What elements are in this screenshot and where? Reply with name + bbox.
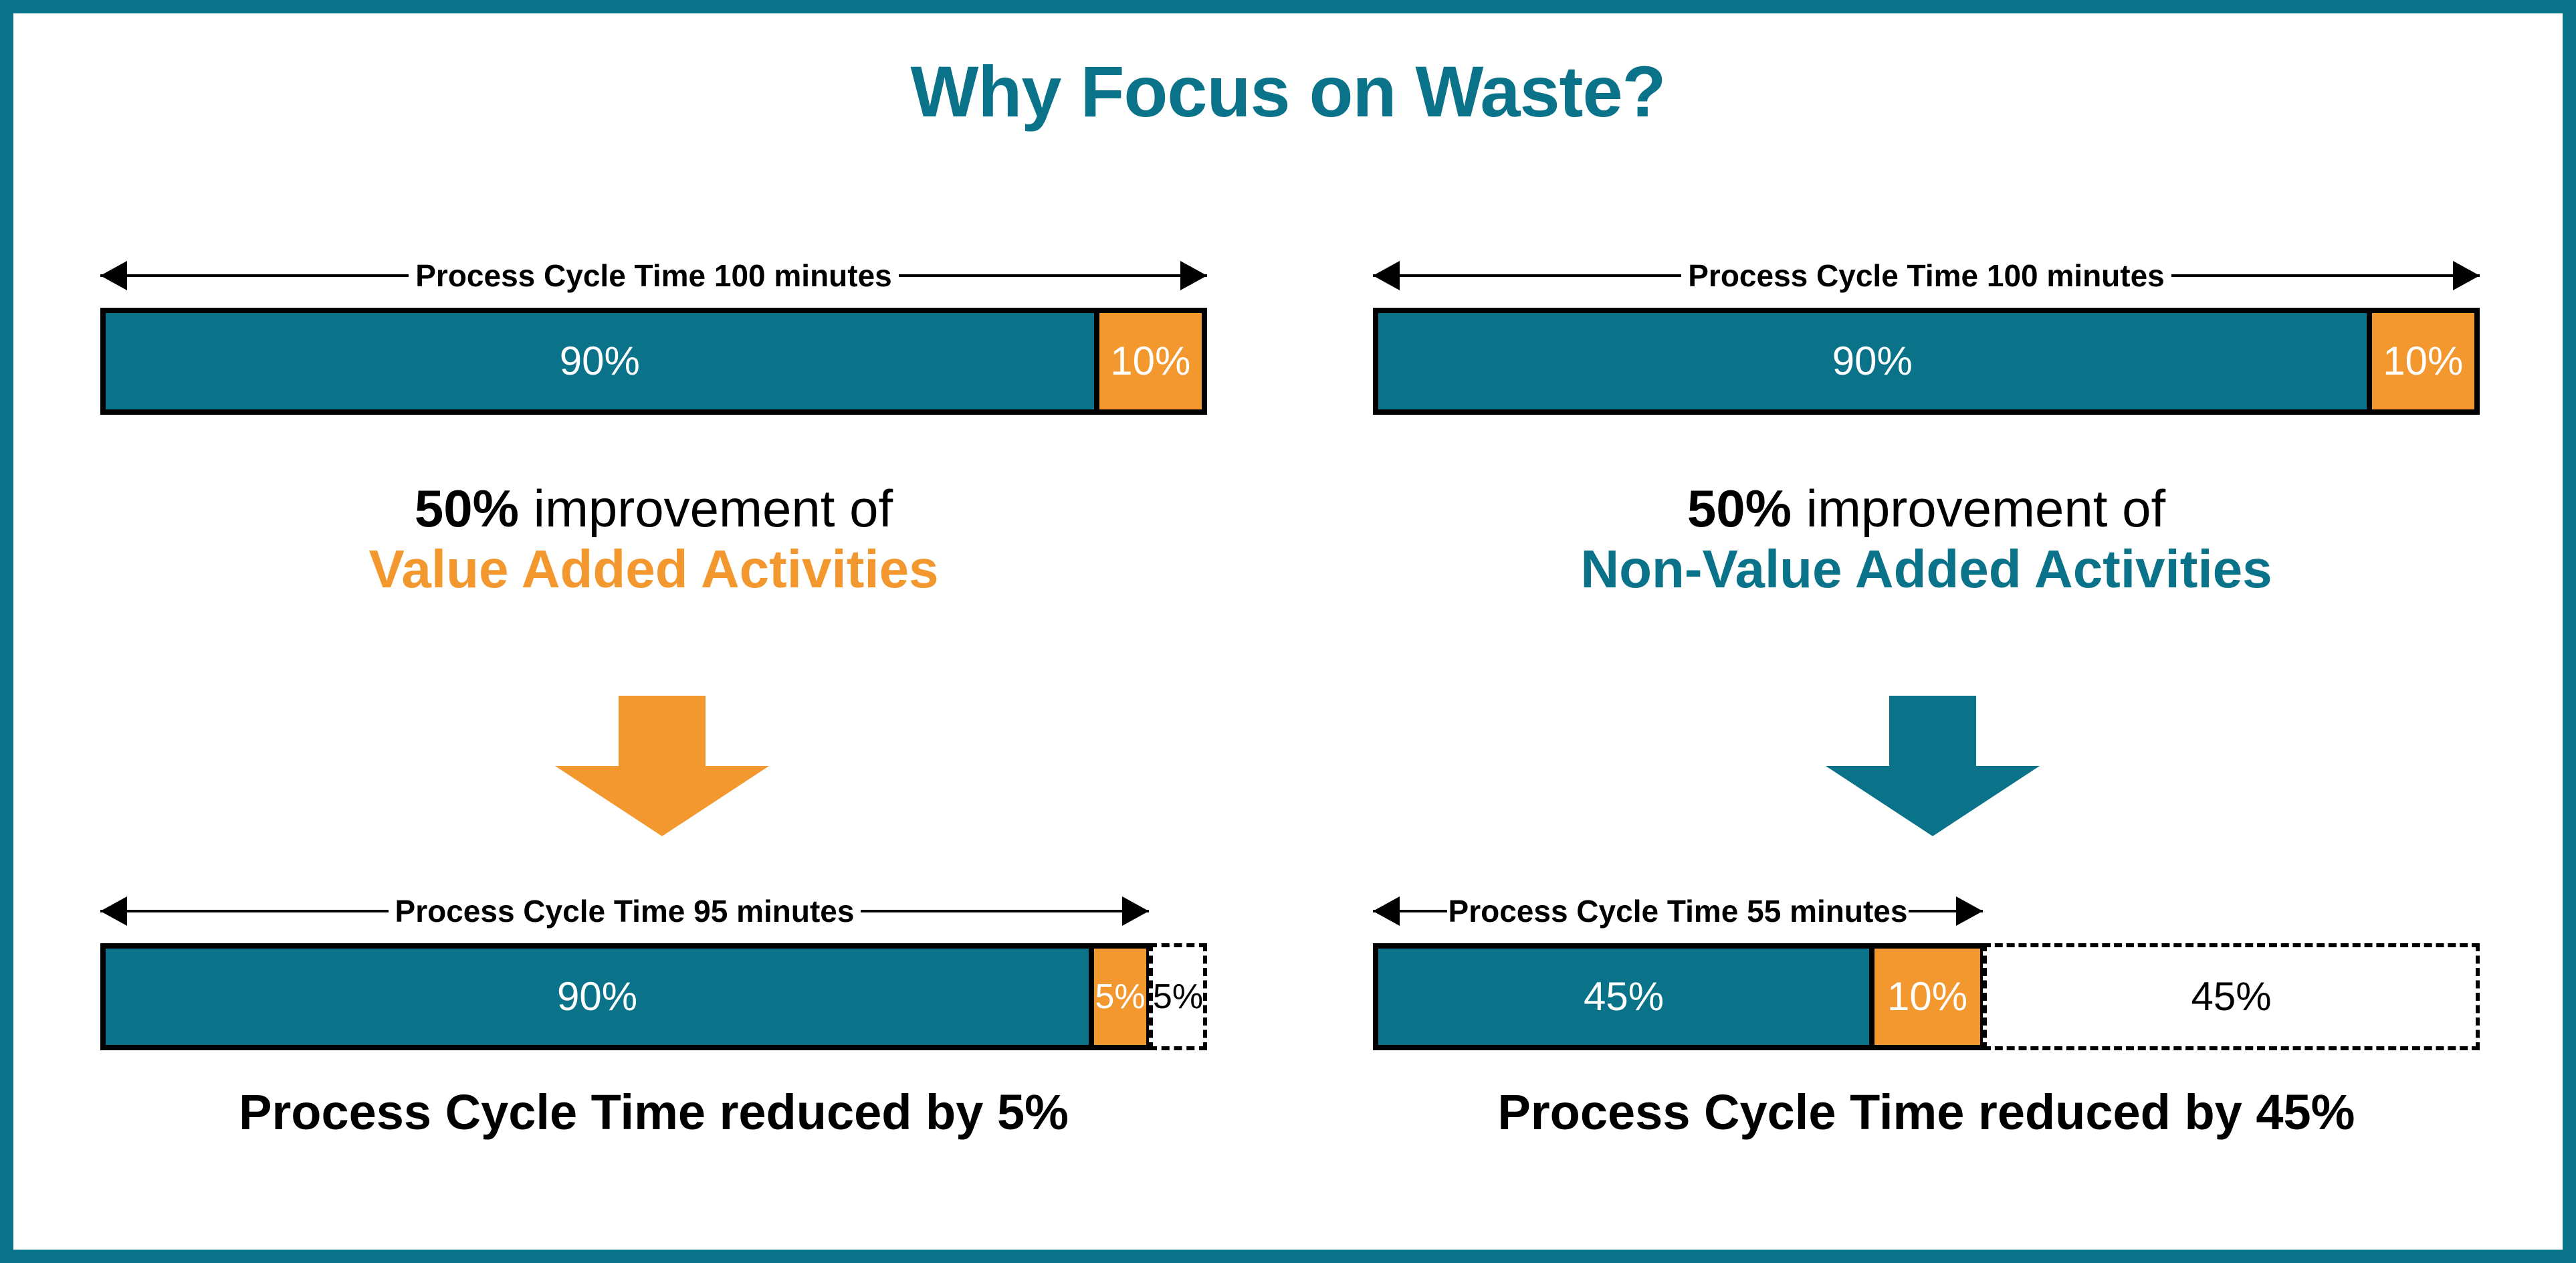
dimension-label-text: Process Cycle Time 55 minutes [1447,894,1909,929]
dimension-label: Process Cycle Time 100 minutes [1373,260,2480,291]
left-top-bar: 90% 10% [100,308,1207,415]
bar-segment-non-value-added: 10% [1872,943,1983,1050]
left-top-dimension-arrow: Process Cycle Time 100 minutes [100,254,1207,297]
bar-segment-label: 5% [1095,979,1145,1014]
dimension-label: Process Cycle Time 95 minutes [100,896,1149,927]
left-statement-rest: improvement of [519,479,893,538]
right-statement-percent: 50% [1687,479,1792,538]
right-statement: 50% improvement of Non-Value Added Activ… [1373,478,2480,601]
arrow-point [1826,766,2040,836]
right-statement-rest: improvement of [1792,479,2165,538]
left-bottom-bar: 90% 5% 5% [100,943,1207,1050]
right-caption: Process Cycle Time reduced by 45% [1373,1084,2480,1141]
bar-segment-label: 5% [1153,979,1203,1014]
down-arrow-teal-icon [1826,696,2040,836]
left-statement-line1: 50% improvement of [100,478,1207,539]
bar-segment-label: 90% [557,977,637,1017]
bar-segment-label: 10% [1110,341,1190,381]
left-caption: Process Cycle Time reduced by 5% [100,1084,1207,1141]
bar-segment-label: 45% [1584,977,1664,1017]
arrow-point [555,766,769,836]
down-arrow-orange-icon [555,696,769,836]
bar-segment-non-value-added: 10% [1097,308,1208,415]
bar-segment-value-added: 90% [1373,308,2369,415]
arrow-shaft [619,696,706,766]
bar-segment-label: 45% [2191,977,2271,1017]
bar-segment-value-added: 90% [100,943,1091,1050]
bar-segment-value-added: 90% [100,308,1097,415]
bar-segment-non-value-added: 5% [1091,943,1149,1050]
page-title: Why Focus on Waste? [0,52,2576,132]
dimension-label: Process Cycle Time 55 minutes [1373,896,1983,927]
bar-segment-non-value-added: 10% [2369,308,2480,415]
bar-segment-removed: 45% [1983,943,2480,1050]
bar-segment-label: 90% [1832,341,1913,381]
right-top-bar: 90% 10% [1373,308,2480,415]
right-statement-highlight: Non-Value Added Activities [1373,539,2480,601]
bar-segment-label: 10% [1887,977,1967,1017]
slide-canvas: Why Focus on Waste? Process Cycle Time 1… [0,0,2576,1263]
left-statement: 50% improvement of Value Added Activitie… [100,478,1207,601]
right-top-dimension-arrow: Process Cycle Time 100 minutes [1373,254,2480,297]
left-statement-percent: 50% [415,479,519,538]
bar-segment-label: 10% [2383,341,2463,381]
left-bottom-dimension-arrow: Process Cycle Time 95 minutes [100,890,1149,933]
dimension-label-text: Process Cycle Time 100 minutes [1681,258,2171,293]
right-bottom-dimension-arrow: Process Cycle Time 55 minutes [1373,890,1983,933]
bar-segment-removed: 5% [1149,943,1207,1050]
bar-segment-label: 90% [560,341,640,381]
right-statement-line1: 50% improvement of [1373,478,2480,539]
dimension-label: Process Cycle Time 100 minutes [100,260,1207,291]
left-statement-highlight: Value Added Activities [100,539,1207,601]
dimension-label-text: Process Cycle Time 95 minutes [389,894,861,929]
dimension-label-text: Process Cycle Time 100 minutes [409,258,899,293]
arrow-shaft [1889,696,1976,766]
bar-segment-value-added: 45% [1373,943,1872,1050]
right-bottom-bar: 45% 10% 45% [1373,943,2480,1050]
